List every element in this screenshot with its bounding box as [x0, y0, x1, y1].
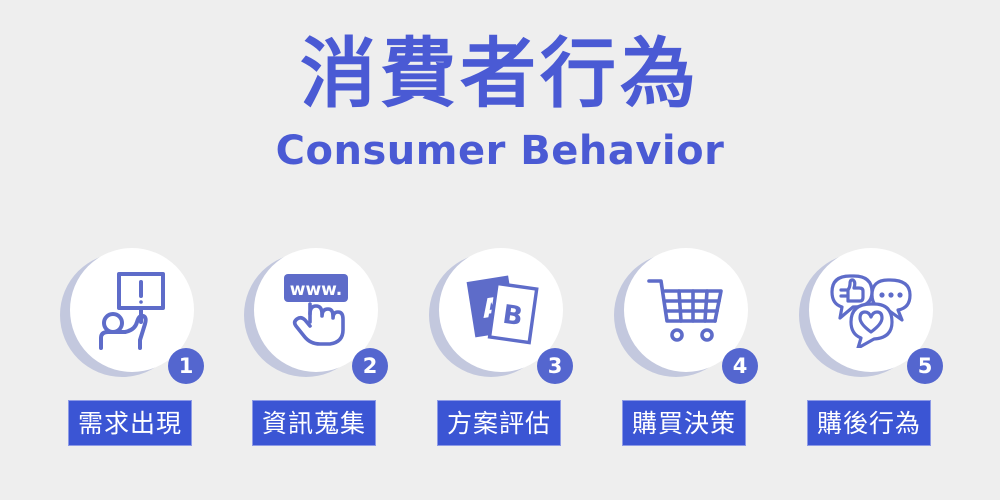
step-item-4: 4 購買決策 [592, 248, 776, 458]
step-item-5: 5 購後行為 [777, 248, 961, 458]
step-label-4: 購買決策 [622, 400, 746, 446]
step-label-2: 資訊蒐集 [252, 400, 376, 446]
step-circle-2: www. 2 [244, 248, 384, 378]
step-number-badge-5: 5 [907, 348, 943, 384]
step-circle-3: A B 3 [429, 248, 569, 378]
infographic-root: 消費者行為 Consumer Behavior [0, 0, 1000, 500]
page-title-chinese: 消費者行為 [0, 34, 1000, 114]
www-text: www. [290, 280, 343, 300]
step-number-badge-3: 3 [537, 348, 573, 384]
step-label-1: 需求出現 [68, 400, 192, 446]
step-number-badge-1: 1 [168, 348, 204, 384]
step-item-3: A B 3 方案評估 [407, 248, 591, 458]
header: 消費者行為 Consumer Behavior [0, 34, 1000, 174]
step-label-5: 購後行為 [807, 400, 931, 446]
steps-row: 1 需求出現 www. [0, 248, 1000, 458]
card-b-letter: B [501, 300, 525, 332]
step-circle-5: 5 [799, 248, 939, 378]
step-item-1: 1 需求出現 [38, 248, 222, 458]
step-circle-1: 1 [60, 248, 200, 378]
step-number-badge-2: 2 [352, 348, 388, 384]
step-item-2: www. 2 資訊蒐集 [222, 248, 406, 458]
step-circle-4: 4 [614, 248, 754, 378]
step-label-3: 方案評估 [437, 400, 561, 446]
step-number-badge-4: 4 [722, 348, 758, 384]
page-subtitle-english: Consumer Behavior [0, 128, 1000, 174]
